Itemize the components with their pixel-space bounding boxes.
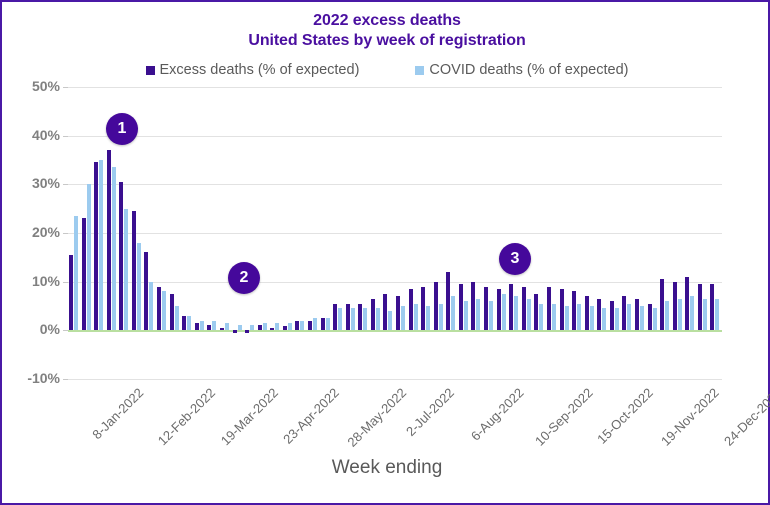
bar-group[interactable] [395,87,408,379]
bar-covid[interactable] [300,321,304,331]
bar-group[interactable] [634,87,647,379]
bar-excess[interactable] [446,272,450,330]
bar-covid[interactable] [326,318,330,330]
bar-excess[interactable] [308,321,312,331]
bar-excess[interactable] [648,304,652,331]
bar-excess[interactable] [383,294,387,331]
gridline [68,379,722,380]
bar-covid[interactable] [678,299,682,331]
chart-title-block: 2022 excess deaths United States by week… [2,11,770,51]
bar-excess[interactable] [698,284,702,330]
y-axis-tick-label: 30% [8,175,60,191]
bar-group[interactable] [445,87,458,379]
bar-excess[interactable] [673,282,677,331]
bar-covid[interactable] [388,311,392,330]
bar-excess[interactable] [610,301,614,330]
bar-excess[interactable] [409,289,413,330]
x-axis-tick-label: 2-Jul-2022 [403,385,457,439]
y-axis-tick-label: 0% [8,321,60,337]
square-swatch-icon [146,66,155,75]
bar-excess[interactable] [434,282,438,331]
legend-label-excess-deaths: Excess deaths (% of expected) [160,62,360,78]
bar-group[interactable] [307,87,320,379]
bar-covid[interactable] [363,308,367,330]
bar-group[interactable] [282,87,295,379]
bar-group[interactable] [81,87,94,379]
bar-covid[interactable] [112,167,116,330]
bar-covid[interactable] [665,301,669,330]
bar-excess[interactable] [484,287,488,331]
bar-group[interactable] [143,87,156,379]
x-axis-tick-label: 15-Oct-2022 [595,385,657,447]
bar-covid[interactable] [212,321,216,331]
bar-group[interactable] [232,87,245,379]
bar-group[interactable] [496,87,509,379]
y-axis-tick-label: 20% [8,224,60,240]
x-axis-tick-label: 8-Jan-2022 [90,385,147,442]
bar-covid[interactable] [590,306,594,330]
bar-excess[interactable] [710,284,714,330]
y-axis-tick-mark [63,282,68,283]
legend-item-covid-deaths[interactable]: COVID deaths (% of expected) [415,62,628,78]
y-axis-tick-label: 40% [8,127,60,143]
bar-covid[interactable] [502,294,506,331]
bar-group[interactable] [219,87,232,379]
chart-frame: 2022 excess deaths United States by week… [0,0,770,505]
y-axis-tick-mark [63,87,68,88]
bar-excess[interactable] [94,162,98,330]
bar-group[interactable] [458,87,471,379]
bar-group[interactable] [609,87,622,379]
bar-excess[interactable] [144,252,148,330]
bar-covid[interactable] [565,306,569,330]
bar-excess[interactable] [233,330,237,332]
bar-group[interactable] [206,87,219,379]
bar-group[interactable] [470,87,483,379]
x-axis-tick-label: 19-Nov-2022 [658,385,722,449]
bar-group[interactable] [370,87,383,379]
bar-excess[interactable] [270,328,274,330]
bar-excess[interactable] [207,325,211,330]
bar-group[interactable] [709,87,722,379]
bar-group[interactable] [332,87,345,379]
bar-group[interactable] [181,87,194,379]
bar-group[interactable] [382,87,395,379]
bar-excess[interactable] [522,287,526,331]
annotation-marker-2[interactable]: 2 [228,262,260,294]
x-axis-tick-label: 24-Dec-2022 [721,385,770,449]
x-axis-title: Week ending [2,457,770,479]
bar-group[interactable] [483,87,496,379]
y-axis-tick-mark [63,136,68,137]
y-axis-tick-mark [63,330,68,331]
plot-area [68,87,722,379]
bar-excess[interactable] [82,218,86,330]
bar-excess[interactable] [69,255,73,330]
chart-legend: Excess deaths (% of expected) COVID deat… [2,62,770,78]
bar-group[interactable] [672,87,685,379]
bar-covid[interactable] [514,296,518,330]
x-axis-tick-label: 19-Mar-2022 [218,385,281,448]
bar-excess[interactable] [358,304,362,331]
bar-excess[interactable] [421,287,425,331]
bar-covid[interactable] [426,306,430,330]
bar-excess[interactable] [245,330,249,332]
bar-group[interactable] [584,87,597,379]
bar-covid[interactable] [615,308,619,330]
bar-covid[interactable] [225,323,229,330]
bar-covid[interactable] [439,304,443,331]
y-axis-tick-label: 10% [8,273,60,289]
bar-covid[interactable] [74,216,78,330]
bar-covid[interactable] [351,308,355,330]
bar-covid[interactable] [489,301,493,330]
bar-excess[interactable] [119,182,123,330]
annotation-marker-1[interactable]: 1 [106,113,138,145]
bar-excess[interactable] [182,316,186,331]
bar-covid[interactable] [137,243,141,331]
bar-covid[interactable] [401,306,405,330]
bar-covid[interactable] [238,325,242,330]
bar-covid[interactable] [149,282,153,331]
bar-group[interactable] [294,87,307,379]
bar-excess[interactable] [157,287,161,331]
bar-group[interactable] [433,87,446,379]
bar-covid[interactable] [451,296,455,330]
bar-covid[interactable] [690,296,694,330]
bar-excess[interactable] [547,287,551,331]
bar-excess[interactable] [170,294,174,331]
bar-covid[interactable] [640,306,644,330]
bar-excess[interactable] [396,296,400,330]
bar-covid[interactable] [263,323,267,330]
y-axis-tick-mark [63,184,68,185]
bar-group[interactable] [659,87,672,379]
bar-excess[interactable] [346,304,350,331]
y-axis-tick-mark [63,233,68,234]
bar-excess[interactable] [333,304,337,331]
bar-covid[interactable] [703,299,707,331]
bar-covid[interactable] [313,318,317,330]
bar-group[interactable] [684,87,697,379]
bar-excess[interactable] [660,279,664,330]
y-axis-tick-label: 50% [8,78,60,94]
x-axis-tick-label: 23-Apr-2022 [280,385,342,447]
bar-excess[interactable] [321,318,325,330]
legend-label-covid-deaths: COVID deaths (% of expected) [429,62,628,78]
bar-group[interactable] [194,87,207,379]
page-subtitle: United States by week of registration [2,31,770,51]
bar-covid[interactable] [87,184,91,330]
bar-excess[interactable] [107,150,111,330]
bar-covid[interactable] [187,316,191,331]
bar-excess[interactable] [534,294,538,331]
bar-excess[interactable] [195,323,199,330]
bar-excess[interactable] [509,284,513,330]
y-axis-tick-mark [63,379,68,380]
bar-group[interactable] [420,87,433,379]
bar-covid[interactable] [464,301,468,330]
bar-covid[interactable] [414,304,418,331]
bar-excess[interactable] [459,284,463,330]
bar-covid[interactable] [476,299,480,331]
bar-group[interactable] [546,87,559,379]
bar-covid[interactable] [577,304,581,331]
bar-group[interactable] [93,87,106,379]
bar-group[interactable] [533,87,546,379]
bar-group[interactable] [320,87,333,379]
page-title: 2022 excess deaths [2,11,770,31]
bar-group[interactable] [559,87,572,379]
bar-covid[interactable] [288,323,292,330]
bar-group[interactable] [621,87,634,379]
bar-group[interactable] [269,87,282,379]
bar-covid[interactable] [376,308,380,330]
bar-group[interactable] [697,87,710,379]
bar-covid[interactable] [539,304,543,331]
bar-group[interactable] [571,87,584,379]
bar-excess[interactable] [560,289,564,330]
bar-covid[interactable] [715,299,719,331]
bar-covid[interactable] [99,160,103,330]
bar-excess[interactable] [371,299,375,331]
bar-excess[interactable] [597,299,601,331]
bar-excess[interactable] [283,326,287,330]
bar-group[interactable] [244,87,257,379]
bar-excess[interactable] [132,211,136,330]
legend-item-excess-deaths[interactable]: Excess deaths (% of expected) [146,62,360,78]
bar-group[interactable] [647,87,660,379]
square-swatch-icon [415,66,424,75]
bar-group[interactable] [596,87,609,379]
bar-covid[interactable] [653,308,657,330]
bar-group[interactable] [357,87,370,379]
bar-excess[interactable] [471,282,475,331]
bar-covid[interactable] [275,323,279,330]
bar-group[interactable] [345,87,358,379]
bar-excess[interactable] [622,296,626,330]
bar-covid[interactable] [627,304,631,331]
bar-group[interactable] [521,87,534,379]
y-axis-tick-label: -10% [8,370,60,386]
bar-covid[interactable] [250,325,254,330]
bar-excess[interactable] [635,299,639,331]
x-axis-tick-label: 10-Sep-2022 [532,385,596,449]
annotation-marker-3[interactable]: 3 [499,243,531,275]
bar-excess[interactable] [295,321,299,331]
bar-covid[interactable] [527,299,531,331]
bar-excess[interactable] [685,277,689,331]
bar-group[interactable] [68,87,81,379]
bar-series-group [68,87,722,379]
bar-excess[interactable] [497,289,501,330]
x-axis-tick-label: 12-Feb-2022 [155,385,218,448]
bar-group[interactable] [408,87,421,379]
bar-covid[interactable] [162,291,166,330]
bar-covid[interactable] [602,308,606,330]
x-axis-tick-label: 28-May-2022 [344,385,409,450]
bar-covid[interactable] [338,308,342,330]
bar-group[interactable] [169,87,182,379]
bar-excess[interactable] [258,325,262,330]
bar-covid[interactable] [552,304,556,331]
bar-covid[interactable] [200,321,204,331]
bar-group[interactable] [156,87,169,379]
bar-excess[interactable] [572,291,576,330]
bar-excess[interactable] [220,328,224,330]
bar-covid[interactable] [175,306,179,330]
bar-group[interactable] [508,87,521,379]
x-axis-tick-label: 6-Aug-2022 [467,385,526,444]
bar-covid[interactable] [124,209,128,331]
bar-excess[interactable] [585,296,589,330]
bar-group[interactable] [257,87,270,379]
